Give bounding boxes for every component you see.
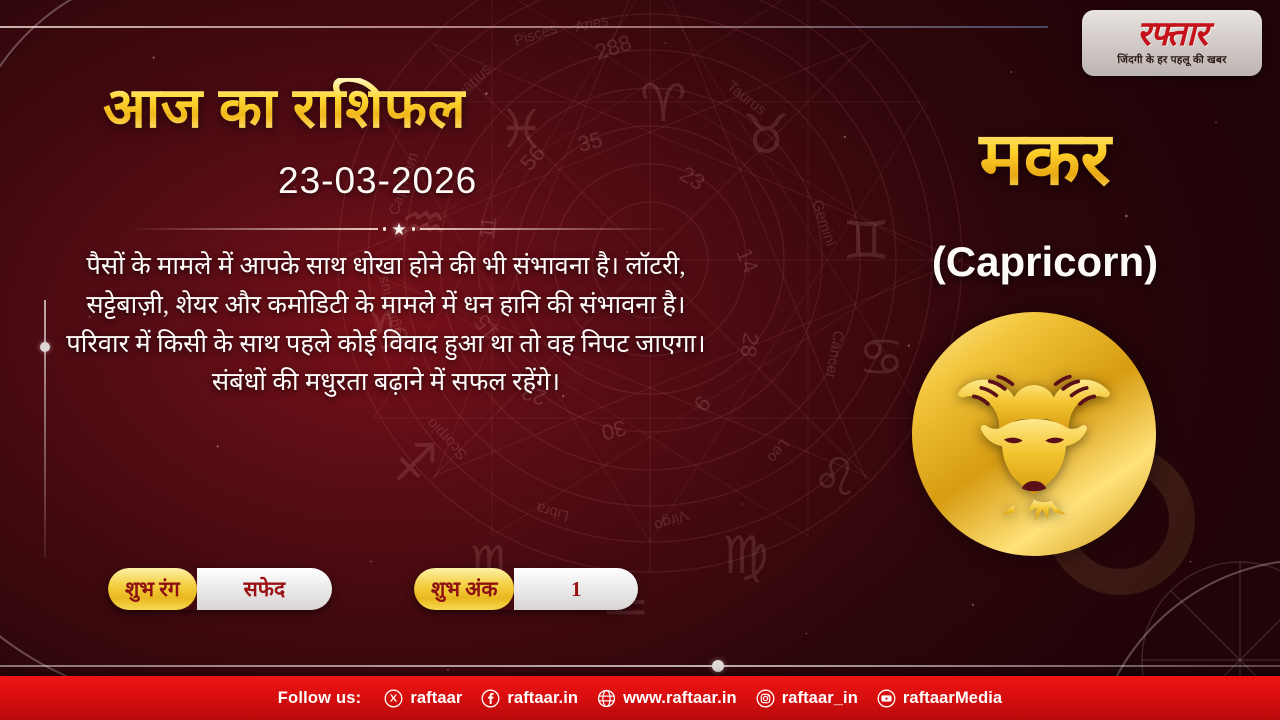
- lucky-color-badge[interactable]: शुभ रंग सफेद: [108, 568, 332, 610]
- svg-text:288: 288: [592, 30, 635, 65]
- social-footer: Follow us: raftaar raftaar.in www.raftaa: [0, 676, 1280, 720]
- lucky-number-badge[interactable]: शुभ अंक 1: [414, 568, 638, 610]
- social-handle-facebook: raftaar.in: [507, 689, 578, 708]
- lucky-number-label: शुभ अंक: [414, 568, 514, 610]
- globe-icon: [597, 689, 616, 708]
- svg-text:Aries: Aries: [573, 12, 610, 36]
- date-label: 23-03-2026: [278, 160, 477, 202]
- raftaar-logo[interactable]: रफ्तार जिंदगी के हर पहलू की खबर: [1082, 10, 1262, 76]
- left-hairline-knob: [40, 342, 50, 352]
- social-handle-website: www.raftaar.in: [623, 689, 737, 708]
- top-hairline: [0, 26, 1048, 28]
- logo-wordmark: रफ्तार: [1137, 19, 1207, 51]
- bottom-hairline-knob: [712, 660, 724, 672]
- divider-star-icon: ★: [391, 221, 406, 238]
- social-handle-instagram: raftaar_in: [782, 689, 858, 708]
- instagram-icon: [756, 689, 775, 708]
- svg-text:Libra: Libra: [534, 499, 571, 525]
- social-handle-twitter: raftaar: [410, 689, 462, 708]
- logo-tagline: जिंदगी के हर पहलू की खबर: [1117, 53, 1226, 67]
- svg-text:Gemini: Gemini: [808, 198, 839, 248]
- divider-line-left: [130, 228, 378, 230]
- svg-text:Taurus: Taurus: [724, 78, 770, 119]
- zodiac-sign-name-english: (Capricorn): [860, 238, 1230, 286]
- star-divider: ★: [130, 222, 668, 236]
- social-handle-youtube: raftaarMedia: [903, 689, 1002, 708]
- svg-text:14: 14: [731, 245, 763, 277]
- svg-text:28: 28: [736, 331, 764, 359]
- capricorn-goat-icon: [940, 340, 1128, 528]
- facebook-icon: [481, 689, 500, 708]
- lucky-color-value: सफेद: [197, 568, 332, 610]
- youtube-icon: [877, 689, 896, 708]
- follow-us-label: Follow us:: [278, 689, 362, 708]
- divider-dot-right: [412, 227, 416, 231]
- horoscope-text: पैसों के मामले में आपके साथ धोखा होने की…: [62, 247, 710, 402]
- lucky-color-label: शुभ रंग: [108, 568, 197, 610]
- svg-text:Cancer: Cancer: [822, 329, 847, 380]
- left-hairline: [44, 300, 46, 558]
- social-link-twitter[interactable]: raftaar: [384, 689, 462, 708]
- social-link-facebook[interactable]: raftaar.in: [481, 689, 578, 708]
- horoscope-card: Aries Taurus Gemini Cancer Leo Virgo Lib…: [0, 0, 1280, 720]
- lucky-number-value: 1: [514, 568, 638, 610]
- page-title: आज का राशिफल: [103, 78, 466, 138]
- divider-dot-left: [383, 227, 387, 231]
- svg-text:23: 23: [675, 161, 709, 195]
- svg-text:Pisces: Pisces: [512, 20, 559, 50]
- x-twitter-icon: [384, 689, 403, 708]
- zodiac-sign-name-hindi: मकर: [880, 122, 1210, 196]
- capricorn-emblem: [912, 312, 1156, 556]
- svg-text:30: 30: [599, 415, 629, 445]
- social-link-youtube[interactable]: raftaarMedia: [877, 689, 1002, 708]
- bottom-hairline: [0, 665, 1280, 667]
- svg-text:Leo: Leo: [763, 436, 792, 466]
- svg-text:Virgo: Virgo: [652, 506, 690, 534]
- social-link-instagram[interactable]: raftaar_in: [756, 689, 858, 708]
- divider-line-right: [420, 228, 668, 230]
- social-link-website[interactable]: www.raftaar.in: [597, 689, 737, 708]
